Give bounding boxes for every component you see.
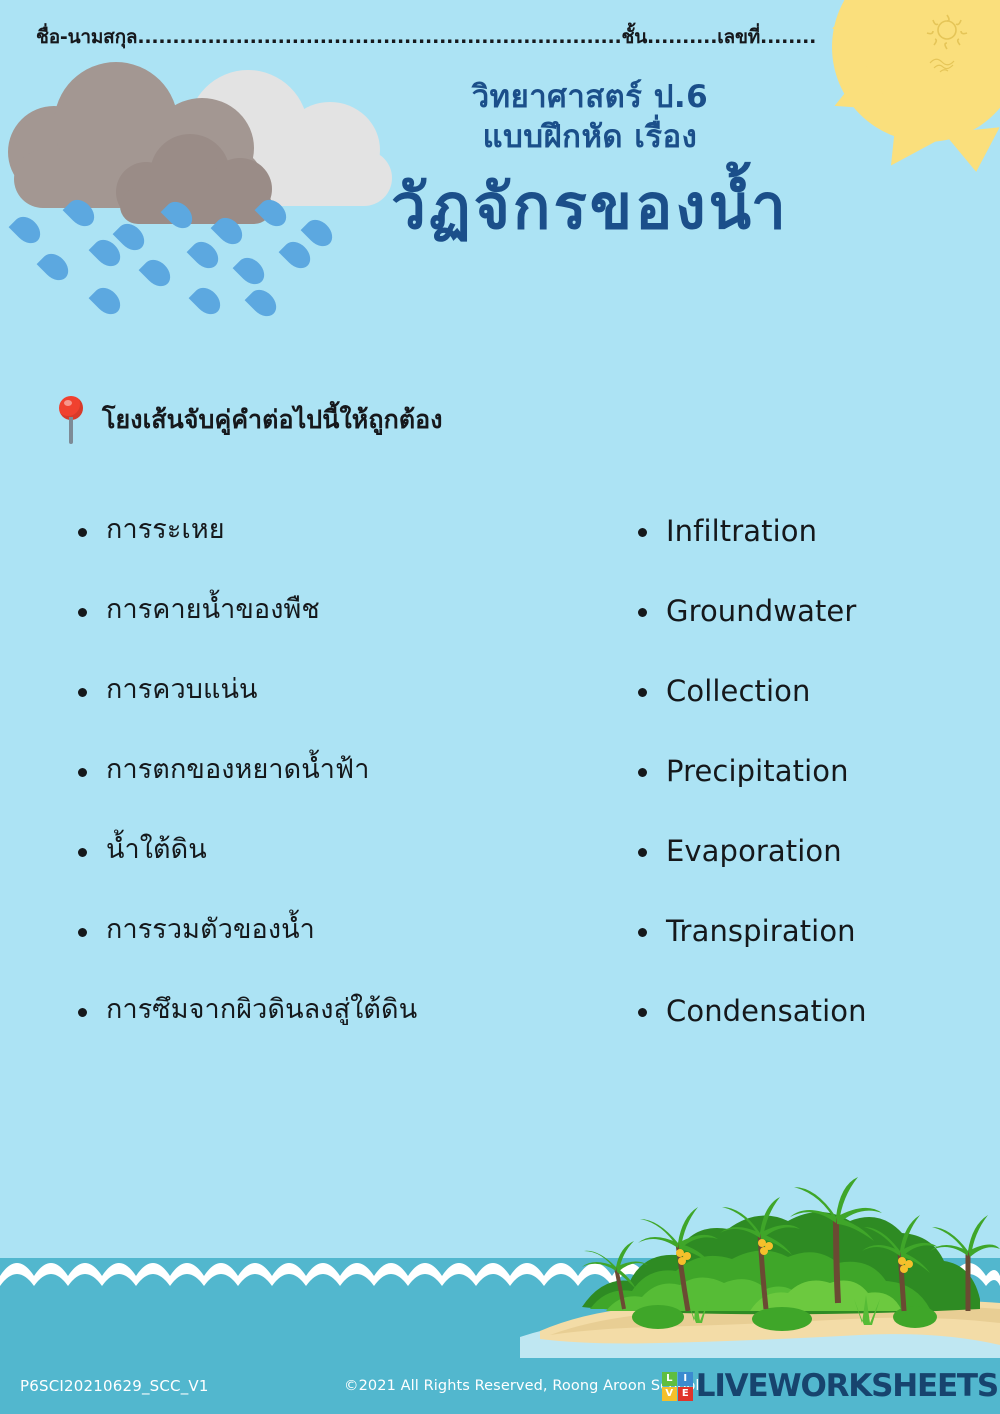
bullet-icon [78,848,87,857]
bullet-icon [78,608,87,617]
copyright-text: ©2021 All Rights Reserved, Roong Aroon S… [344,1378,700,1394]
logo-tile-l: L [662,1372,677,1386]
liveworksheets-tiles: L I V E [662,1372,693,1401]
logo-tile-e: E [678,1387,693,1401]
student-name-field[interactable]: ชื่อ-นามสกุล............................… [36,22,816,52]
list-item[interactable]: Condensation [638,992,1000,1072]
footer-bar: P6SCI20210629_SCC_V1 ©2021 All Rights Re… [0,1358,1000,1414]
worksheet-page: ชื่อ-นามสกุล............................… [0,0,1000,1414]
match-label: การตกของหยาดน้ำฟ้า [106,752,369,788]
match-label: น้ำใต้ดิน [106,832,207,868]
title-block: วิทยาศาสตร์ ป.6 แบบฝึกหัด เรื่อง วัฏจักร… [300,78,880,245]
match-label: Groundwater [666,592,856,631]
bullet-icon [78,528,87,537]
list-item[interactable]: น้ำใต้ดิน [78,832,620,912]
list-item[interactable]: การรวมตัวของน้ำ [78,912,620,992]
subject-line: วิทยาศาสตร์ ป.6 [300,78,880,118]
match-label: การซึมจากผิวดินลงสู่ใต้ดิน [106,992,417,1028]
school-logo-watermark [912,6,982,82]
bullet-icon [78,1008,87,1017]
match-label: การรวมตัวของน้ำ [106,912,315,948]
logo-tile-v: V [662,1387,677,1401]
bullet-icon [78,688,87,697]
match-label: Transpiration [666,912,856,951]
bullet-icon [638,1008,647,1017]
worksheet-code: P6SCI20210629_SCC_V1 [20,1377,209,1395]
cloud-dark-gray [116,134,276,224]
match-label: Condensation [666,992,867,1031]
instruction-row: โยงเส้นจับคู่คำต่อไปนี้ให้ถูกต้อง [56,396,443,444]
liveworksheets-wordmark: LIVEWORKSHEETS [696,1368,998,1404]
worksheet-type-line: แบบฝึกหัด เรื่อง [300,118,880,158]
match-label: Collection [666,672,810,711]
match-label: Precipitation [666,752,849,791]
map-pin-icon [56,396,86,444]
list-item[interactable]: Precipitation [638,752,1000,832]
instruction-text: โยงเส้นจับคู่คำต่อไปนี้ให้ถูกต้อง [102,400,443,440]
match-label: Infiltration [666,512,817,551]
match-label: การควบแน่น [106,672,258,708]
list-item[interactable]: การคายน้ำของพืช [78,592,620,672]
match-label: Evaporation [666,832,842,871]
match-label: การระเหย [106,512,225,548]
logo-tile-i: I [678,1372,693,1386]
thai-terms-column: การระเหย การคายน้ำของพืช การควบแน่น การต… [0,512,620,1072]
tropical-island-icon [520,1159,1000,1374]
list-item[interactable]: การควบแน่น [78,672,620,752]
bullet-icon [638,768,647,777]
list-item[interactable]: การตกของหยาดน้ำฟ้า [78,752,620,832]
bullet-icon [78,928,87,937]
bullet-icon [638,848,647,857]
bullet-icon [638,928,647,937]
list-item[interactable]: การซึมจากผิวดินลงสู่ใต้ดิน [78,992,620,1072]
bullet-icon [638,608,647,617]
liveworksheets-logo[interactable]: L I V E LIVEWORKSHEETS [662,1368,998,1404]
list-item[interactable]: Infiltration [638,512,1000,592]
list-item[interactable]: การระเหย [78,512,620,592]
bullet-icon [78,768,87,777]
bullet-icon [638,528,647,537]
list-item[interactable]: Groundwater [638,592,1000,672]
bullet-icon [638,688,647,697]
page-title: วัฏจักรของน้ำ [300,169,880,245]
list-item[interactable]: Transpiration [638,912,1000,992]
english-terms-column: Infiltration Groundwater Collection Prec… [620,512,1000,1072]
list-item[interactable]: Collection [638,672,1000,752]
match-label: การคายน้ำของพืช [106,592,320,628]
matching-exercise: การระเหย การคายน้ำของพืช การควบแน่น การต… [0,512,1000,1072]
list-item[interactable]: Evaporation [638,832,1000,912]
